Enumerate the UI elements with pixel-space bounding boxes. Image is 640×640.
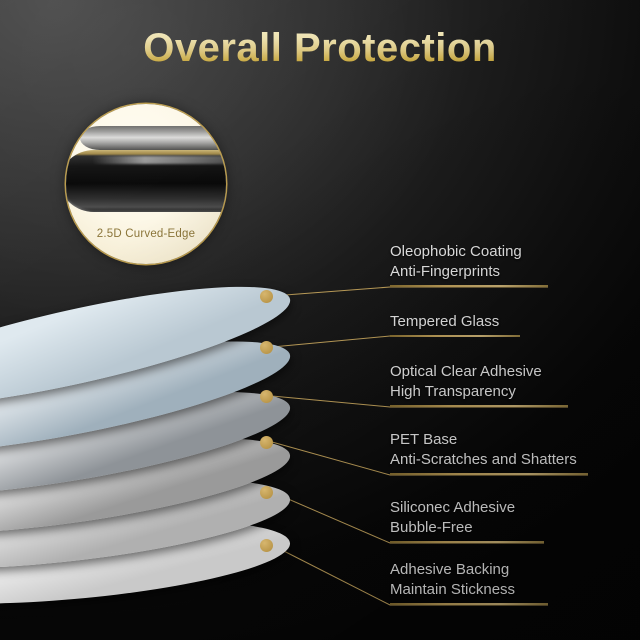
connector-dot-optical-adhesive	[260, 390, 273, 403]
callout-text-line: Tempered Glass	[390, 312, 520, 332]
connector-dot-adhesive-backing	[260, 539, 273, 552]
connector-dot-tempered-glass	[260, 341, 273, 354]
connector-dot-silicone-adhesive	[260, 486, 273, 499]
curved-edge-inset: 2.5D Curved-Edge	[66, 104, 226, 264]
callout-text-line: Anti-Fingerprints	[390, 262, 548, 282]
inset-caption: 2.5D Curved-Edge	[66, 228, 226, 240]
callout-text-line: Maintain Stickness	[390, 580, 548, 600]
callout-text-line: Oleophobic Coating	[390, 242, 548, 262]
connector-dot-pet-base	[260, 436, 273, 449]
phone-edge-gloss	[92, 156, 226, 164]
callout-text-line: Adhesive Backing	[390, 560, 548, 580]
callout-text-line: Optical Clear Adhesive	[390, 362, 568, 382]
callout-adhesive-backing: Adhesive BackingMaintain Stickness	[390, 560, 548, 605]
callout-text-line: Anti-Scratches and Shatters	[390, 450, 588, 470]
callout-oleophobic-coating: Oleophobic CoatingAnti-Fingerprints	[390, 242, 548, 287]
callout-text-line: Bubble-Free	[390, 518, 544, 538]
callout-text-line: Siliconec Adhesive	[390, 498, 544, 518]
callout-underline	[390, 285, 548, 287]
callout-underline	[390, 473, 588, 475]
callout-text-line: PET Base	[390, 430, 588, 450]
callout-underline	[390, 335, 520, 337]
callout-underline	[390, 603, 548, 605]
phone-edge-highlight	[80, 126, 226, 150]
callout-pet-base: PET BaseAnti-Scratches and Shatters	[390, 430, 588, 475]
callout-silicone-adhesive: Siliconec AdhesiveBubble-Free	[390, 498, 544, 543]
callout-text-line: High Transparency	[390, 382, 568, 402]
product-infographic: 2.5D Curved-Edge Overall Protection Oleo…	[0, 0, 640, 640]
page-title: Overall Protection	[0, 26, 640, 71]
callout-underline	[390, 405, 568, 407]
callout-tempered-glass: Tempered Glass	[390, 312, 520, 337]
callout-optical-clear-adhesive: Optical Clear AdhesiveHigh Transparency	[390, 362, 568, 407]
screen-protector-layer-stack	[0, 0, 640, 640]
callout-underline	[390, 541, 544, 543]
connector-dot-oleophobic	[260, 290, 273, 303]
